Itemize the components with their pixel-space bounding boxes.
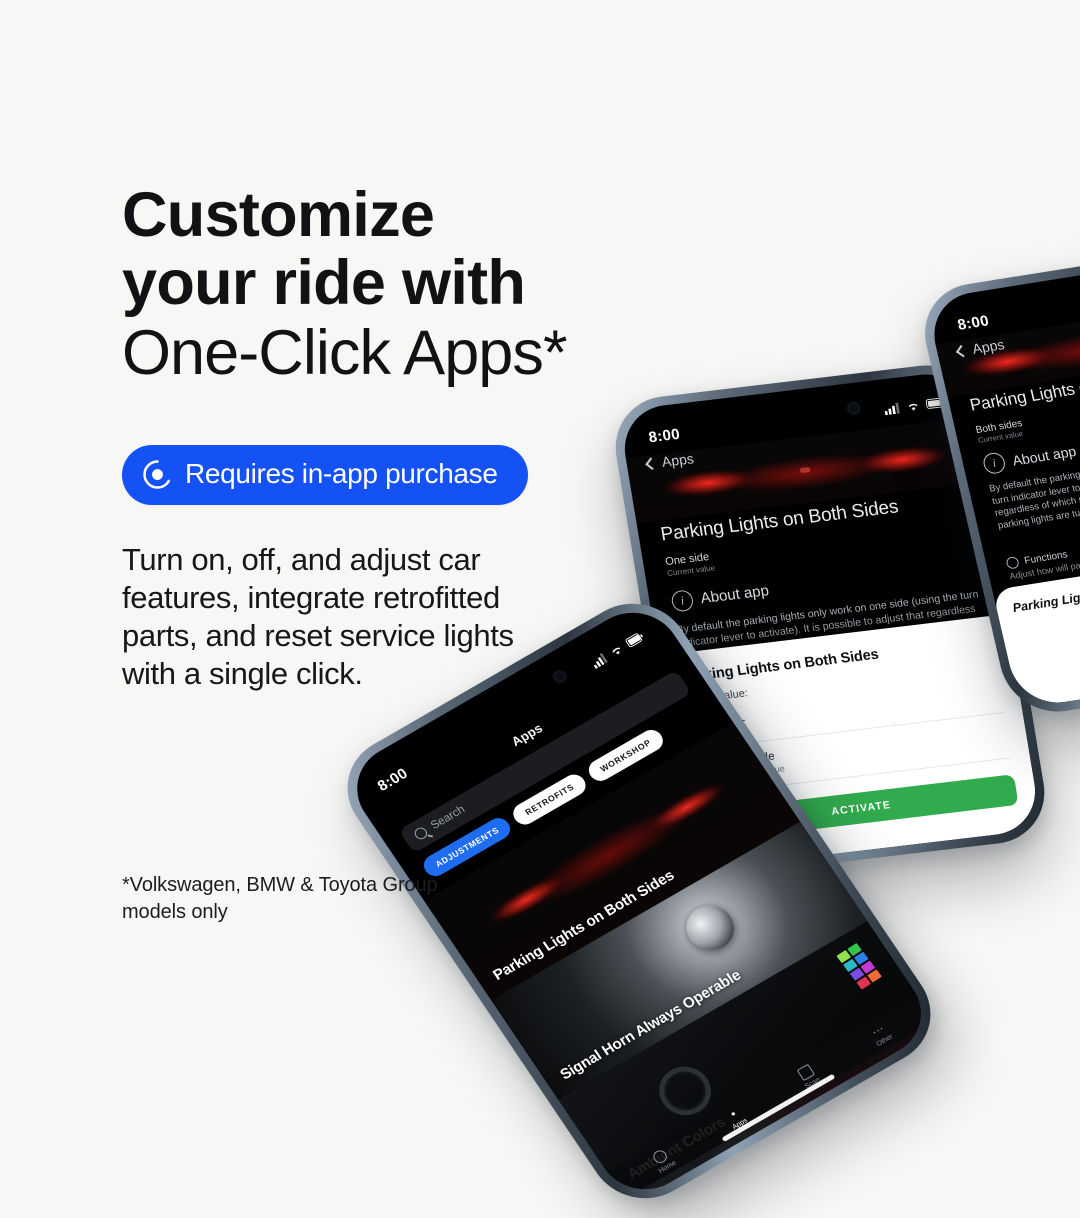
about-app-section-header: i About app bbox=[981, 440, 1078, 475]
about-app-label: About app bbox=[1011, 442, 1078, 468]
status-indicators bbox=[883, 397, 945, 415]
coin-icon bbox=[142, 459, 173, 490]
color-swatches bbox=[836, 943, 881, 990]
badge-label: Requires in-app purchase bbox=[185, 460, 498, 488]
marketing-copy: Customize your ride with One-Click Apps*… bbox=[122, 160, 722, 724]
done-status-label: Done bbox=[1027, 630, 1080, 684]
body-text: Turn on, off, and adjust car features, i… bbox=[122, 541, 592, 693]
cellular-icon bbox=[883, 402, 901, 415]
footnote: *Volkswagen, BMW & Toyota Group models o… bbox=[122, 872, 438, 926]
tab-other[interactable]: ⋯Other bbox=[867, 1021, 894, 1047]
headline-line-3: One-Click Apps* bbox=[122, 317, 722, 389]
info-icon: i bbox=[981, 451, 1007, 475]
poster-canvas: 8:00 Apps Parking Lights on Both Sides B… bbox=[0, 0, 1080, 1080]
search-icon bbox=[412, 825, 429, 841]
search-placeholder: Search bbox=[429, 804, 467, 832]
page-title: Customize your ride with One-Click Apps* bbox=[122, 181, 722, 389]
status-time: 8:00 bbox=[374, 765, 411, 795]
wifi-icon bbox=[905, 400, 921, 413]
chevron-left-icon bbox=[956, 344, 969, 356]
in-app-purchase-badge[interactable]: Requires in-app purchase bbox=[122, 445, 528, 505]
gear-icon bbox=[1005, 556, 1020, 570]
current-value: Both sides Current value bbox=[975, 418, 1026, 445]
headline-line-2: your ride with bbox=[122, 249, 722, 317]
status-time: 8:00 bbox=[956, 312, 991, 333]
tab-home[interactable]: Home bbox=[648, 1146, 677, 1174]
headline-line-1: Customize bbox=[122, 181, 722, 249]
